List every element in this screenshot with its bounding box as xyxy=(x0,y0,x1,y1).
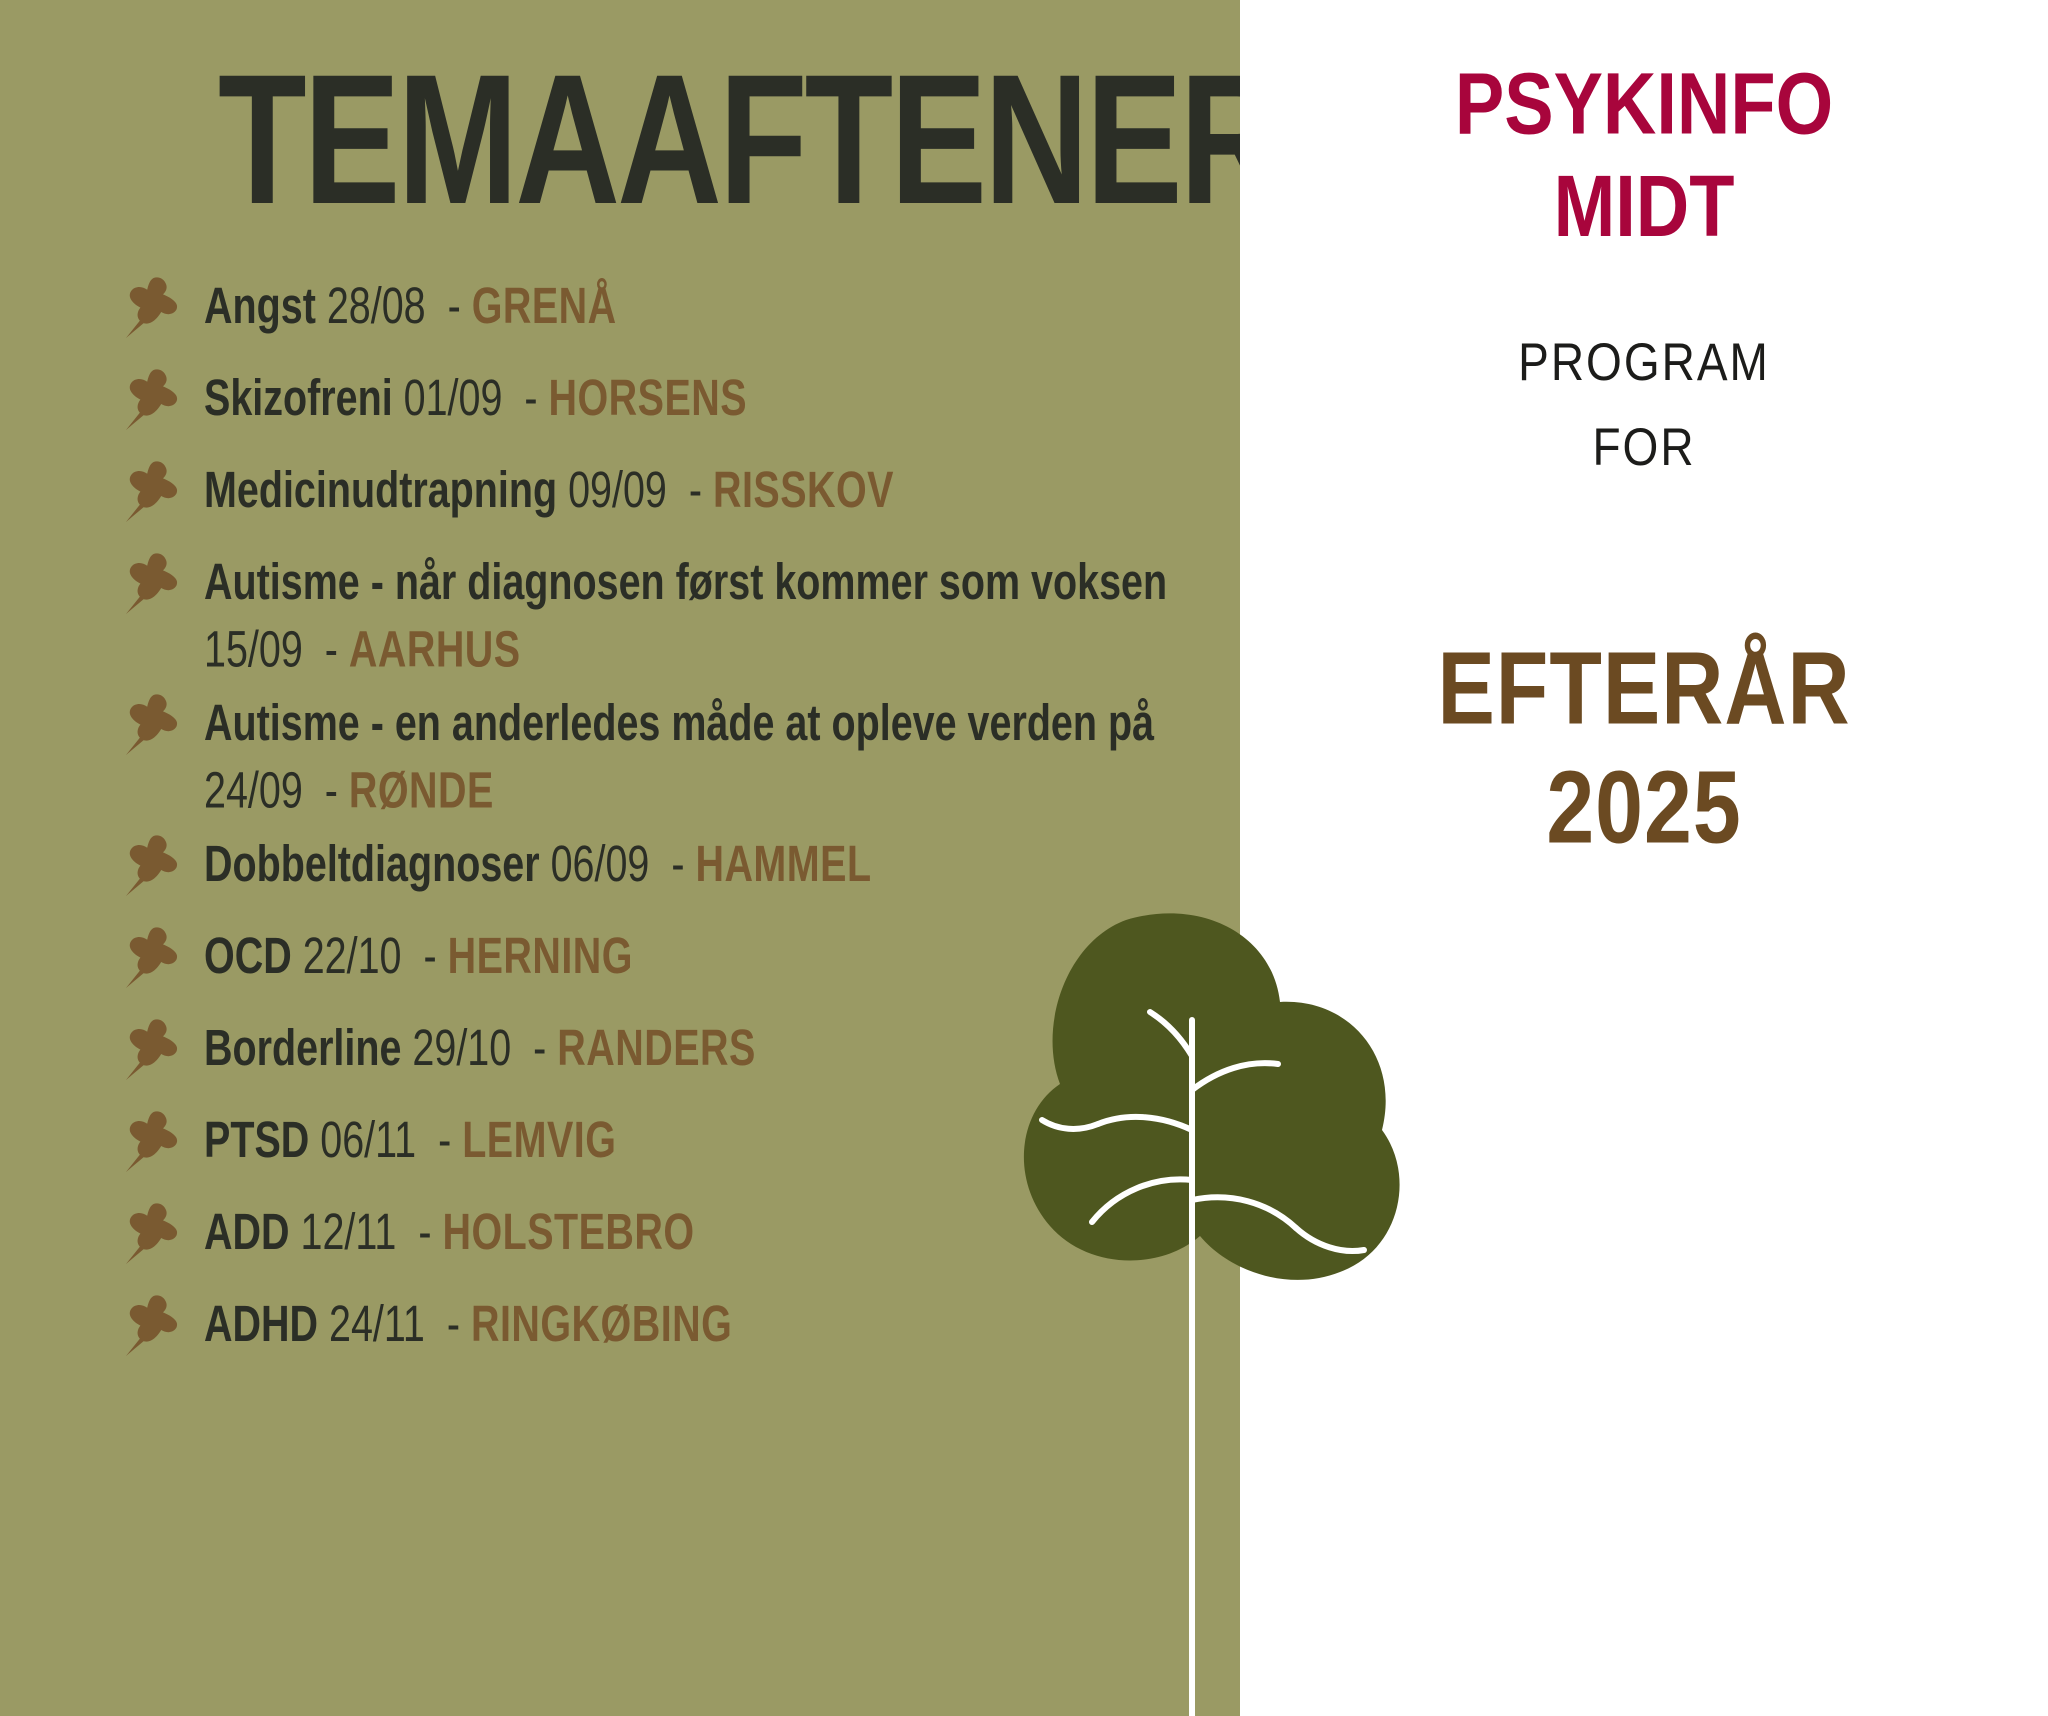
program-label: PROGRAM FOR xyxy=(1240,320,2048,489)
event-city: RANDERS xyxy=(557,1019,756,1076)
event-name: Skizofreni xyxy=(204,369,393,426)
event-date: 28/08 xyxy=(327,277,426,334)
brand-line-2: MIDT xyxy=(1240,155,2048,258)
event-date: 24/11 xyxy=(329,1295,425,1352)
event-name: Dobbeltdiagnoser xyxy=(204,835,540,892)
event-city: LEMVIG xyxy=(462,1111,616,1168)
pushpin-icon xyxy=(120,1200,182,1266)
season-line-1: EFTERÅR xyxy=(1240,630,2048,749)
brand-line-1: PSYKINFO xyxy=(1455,54,1833,152)
event-separator: - xyxy=(325,761,338,818)
event-date: 09/09 xyxy=(568,461,667,518)
pushpin-icon xyxy=(120,691,182,757)
event-separator: - xyxy=(524,369,537,426)
event-separator: - xyxy=(447,1295,460,1352)
brand-name: PSYKINFO MIDT xyxy=(1240,52,2048,258)
pushpin-icon xyxy=(120,550,182,616)
event-city: HORSENS xyxy=(549,369,748,426)
event-date: 06/09 xyxy=(551,835,650,892)
event-separator: - xyxy=(689,461,702,518)
event-separator: - xyxy=(423,927,436,984)
pushpin-icon xyxy=(120,366,182,432)
event-city: AARHUS xyxy=(349,621,521,678)
event-separator: - xyxy=(325,621,338,678)
event-date: 01/09 xyxy=(404,369,503,426)
right-info-column: PSYKINFO MIDT PROGRAM FOR EFTERÅR 2025 xyxy=(1240,0,2048,1716)
page-title: TEMAAFTENER xyxy=(218,48,1281,233)
event-city: RINGKØBING xyxy=(471,1295,732,1352)
event-city: RISSKOV xyxy=(713,461,894,518)
season-line-2: 2025 xyxy=(1240,749,2048,868)
event-name: PTSD xyxy=(204,1111,309,1168)
pushpin-icon xyxy=(120,458,182,524)
event-name: Medicinudtrapning xyxy=(204,461,557,518)
season-label: EFTERÅR 2025 xyxy=(1240,630,2048,867)
event-city: RØNDE xyxy=(349,761,494,818)
event-city: GRENÅ xyxy=(472,277,617,334)
event-date: 06/11 xyxy=(320,1111,416,1168)
program-label-line-1: PROGRAM xyxy=(1240,320,2048,405)
event-name: Borderline xyxy=(204,1019,401,1076)
event-separator: - xyxy=(418,1203,431,1260)
event-date: 24/09 xyxy=(204,761,303,818)
pushpin-icon xyxy=(120,274,182,340)
program-label-line-2: FOR xyxy=(1240,405,2048,490)
pushpin-icon xyxy=(120,1016,182,1082)
event-name: Autisme - når diagnosen først kommer som… xyxy=(204,553,1167,610)
pushpin-icon xyxy=(120,1108,182,1174)
event-separator: - xyxy=(438,1111,451,1168)
event-name: Autisme - en anderledes måde at opleve v… xyxy=(204,694,1154,751)
event-city: HAMMEL xyxy=(695,835,871,892)
event-date: 22/10 xyxy=(303,927,402,984)
pushpin-icon xyxy=(120,924,182,990)
pushpin-icon xyxy=(120,832,182,898)
event-city: HOLSTEBRO xyxy=(442,1203,694,1260)
pushpin-icon xyxy=(120,1292,182,1358)
event-name: ADHD xyxy=(204,1295,318,1352)
event-date: 15/09 xyxy=(204,621,303,678)
event-separator: - xyxy=(448,277,461,334)
event-separator: - xyxy=(671,835,684,892)
event-name: ADD xyxy=(204,1203,290,1260)
event-name: Angst xyxy=(204,277,316,334)
event-city: HERNING xyxy=(448,927,633,984)
event-date: 29/10 xyxy=(412,1019,511,1076)
event-name: OCD xyxy=(204,927,292,984)
event-separator: - xyxy=(533,1019,546,1076)
event-date: 12/11 xyxy=(301,1203,397,1260)
dark-tree-illustration xyxy=(930,880,1450,1716)
poster-canvas: TEMAAFTENER Angst 28/08 - GRENÅ Skizofre… xyxy=(0,0,2048,1716)
